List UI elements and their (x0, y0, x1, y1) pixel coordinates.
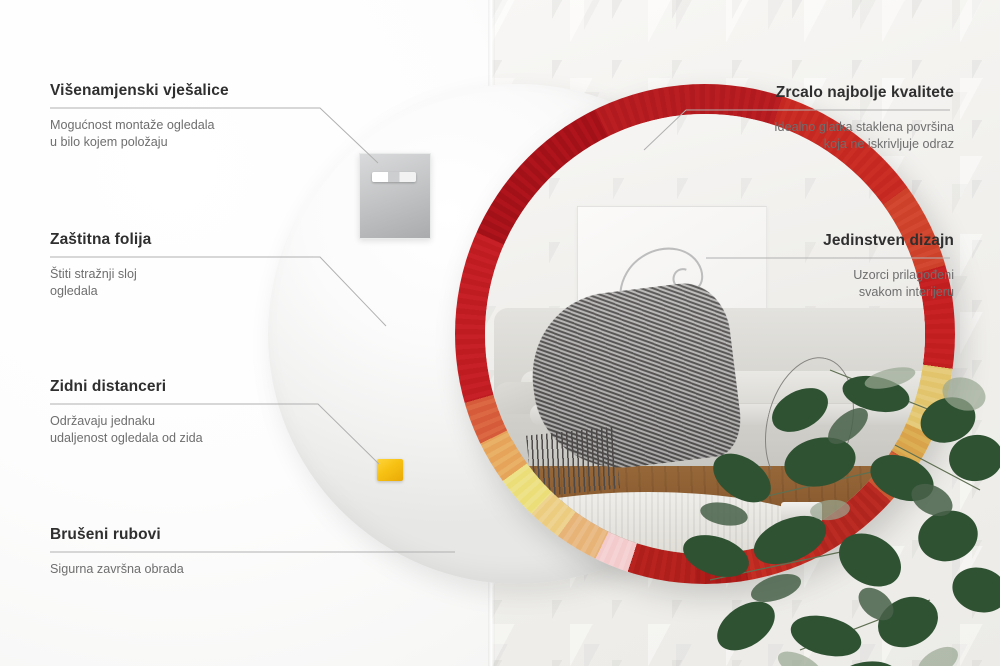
callout-wall-spacers-body: Održavaju jednaku udaljenost ogledala od… (50, 413, 350, 448)
callout-hangers: Višenamjenski vješalice Mogućnost montaž… (50, 82, 350, 152)
leaves-icon (680, 350, 1000, 666)
callout-protective-film-title: Zaštitna folija (50, 231, 350, 249)
callout-protective-film-body: Štiti stražnji sloj ogledala (50, 266, 350, 301)
callout-unique-design-title: Jedinstven dizajn (654, 232, 954, 250)
callout-polished-edges-body: Sigurna završna obrada (50, 561, 350, 578)
hanger-bracket (359, 153, 431, 239)
callout-quality-mirror: Zrcalo najbolje kvalitete Idealno glatka… (654, 84, 954, 154)
callout-polished-edges: Brušeni rubovi Sigurna završna obrada (50, 526, 350, 578)
callout-unique-design: Jedinstven dizajn Uzorci prilagođeni sva… (654, 232, 954, 302)
callout-unique-design-body: Uzorci prilagođeni svakom interijeru (654, 267, 954, 302)
reflection-blanket-fringe (526, 426, 620, 496)
wall-spacer (377, 459, 403, 481)
callout-hangers-body: Mogućnost montaže ogledala u bilo kojem … (50, 117, 350, 152)
callout-quality-mirror-body: Idealno glatka staklena površina koja ne… (654, 119, 954, 154)
infographic-stage: Višenamjenski vješalice Mogućnost montaž… (0, 0, 1000, 666)
plant-leaves-decoration (680, 350, 1000, 666)
hanger-keyhole-slot (372, 172, 416, 182)
callout-protective-film: Zaštitna folija Štiti stražnji sloj ogle… (50, 231, 350, 301)
callout-hangers-title: Višenamjenski vješalice (50, 82, 350, 100)
callout-polished-edges-title: Brušeni rubovi (50, 526, 350, 544)
callout-quality-mirror-title: Zrcalo najbolje kvalitete (654, 84, 954, 102)
callout-wall-spacers-title: Zidni distanceri (50, 378, 350, 396)
callout-wall-spacers: Zidni distanceri Održavaju jednaku udalj… (50, 378, 350, 448)
